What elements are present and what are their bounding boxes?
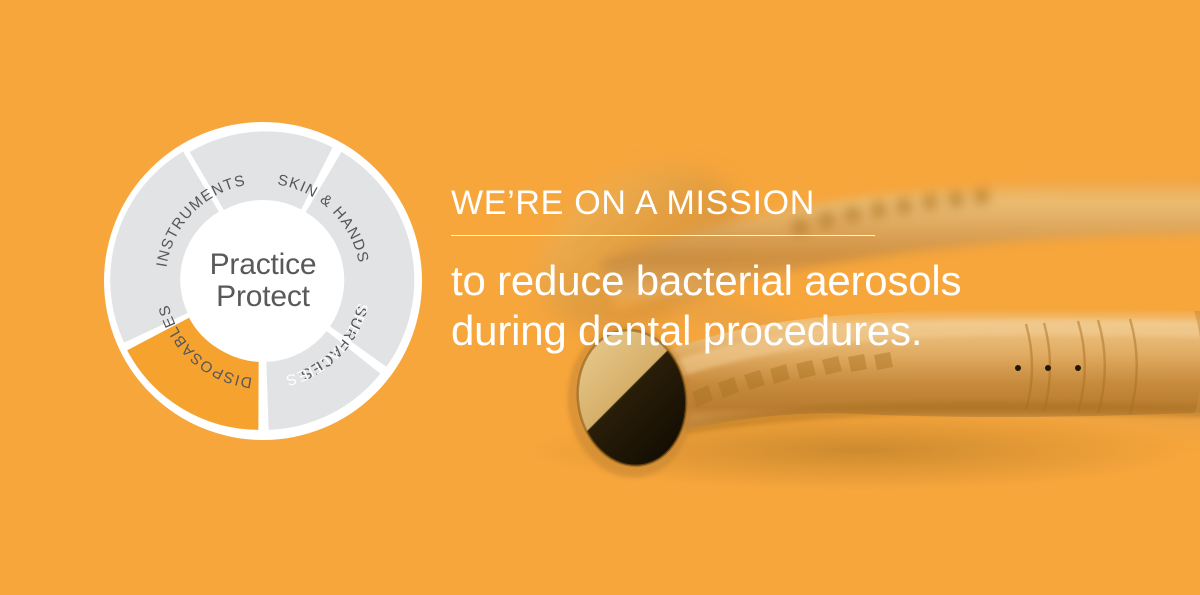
practice-protect-wheel: INSTRUMENTS SKIN & HANDS SURFACES SPECIA… xyxy=(104,122,422,440)
mission-copy: WE’RE ON A MISSION to reduce bacterial a… xyxy=(451,186,1071,355)
wordmark-line-1: Practice xyxy=(179,249,347,281)
mission-eyebrow: WE’RE ON A MISSION xyxy=(451,186,1071,220)
mission-statement: to reduce bacterial aerosols during dent… xyxy=(451,256,1071,355)
mission-banner: INSTRUMENTS SKIN & HANDS SURFACES SPECIA… xyxy=(0,0,1200,595)
mission-statement-line-1: to reduce bacterial aerosols xyxy=(451,256,1071,306)
mission-statement-line-2: during dental procedures. xyxy=(451,306,1071,356)
wheel-center-wordmark: Practice Protect xyxy=(179,249,347,313)
wordmark-line-2: Protect xyxy=(179,281,347,313)
copy-divider xyxy=(451,235,875,236)
